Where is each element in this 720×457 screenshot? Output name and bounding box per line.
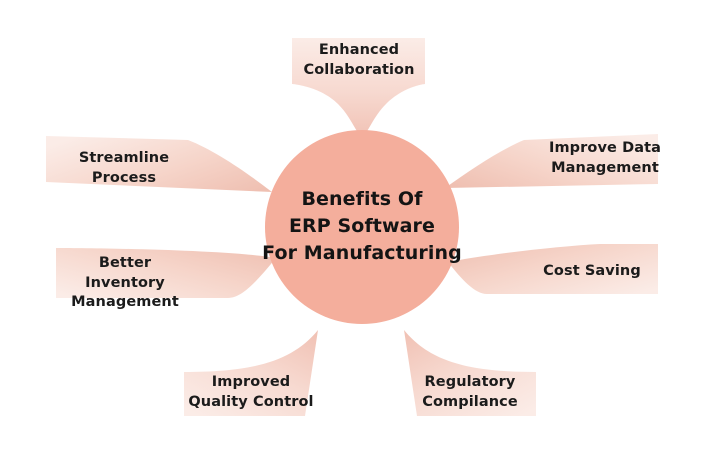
spoke-shape-regulatory-compilance[interactable] (404, 330, 536, 416)
spoke-shape-streamline-process[interactable] (46, 136, 272, 192)
erp-benefits-diagram: Benefits Of ERP Software For Manufacturi… (0, 0, 720, 457)
spoke-shape-enhanced-collaboration[interactable] (292, 38, 425, 136)
spoke-shape-improve-data-management[interactable] (445, 134, 658, 188)
spoke-shape-cost-saving[interactable] (448, 244, 658, 294)
spoke-shape-better-inventory-management[interactable] (56, 248, 276, 298)
center-label: Benefits Of ERP Software For Manufacturi… (262, 186, 462, 267)
spoke-shape-improved-quality-control[interactable] (184, 330, 318, 416)
